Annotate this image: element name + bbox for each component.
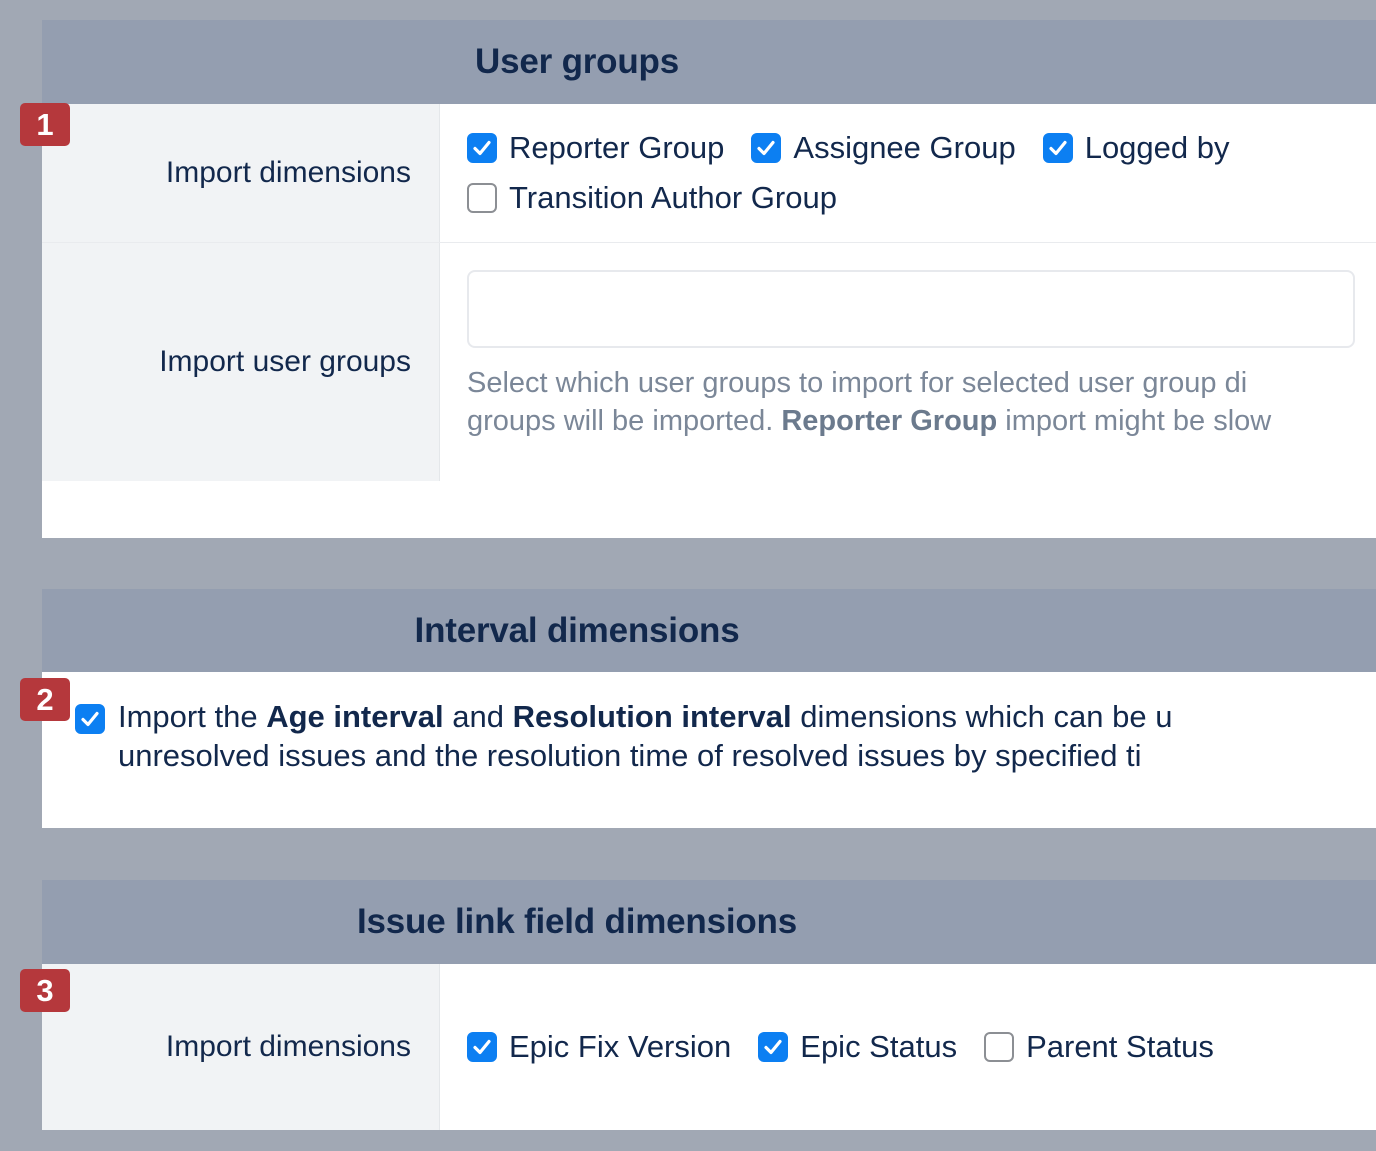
field-row-import-dimensions: Import dimensions Reporter Group: [42, 104, 1376, 242]
checkbox-logged-by[interactable]: Logged by: [1043, 130, 1230, 166]
card-title: User groups: [475, 42, 679, 82]
checkbox-checked-icon[interactable]: [751, 133, 781, 163]
step-badge-label: 2: [36, 682, 53, 718]
field-label-cell: Import dimensions: [42, 964, 440, 1130]
field-control-cell: Reporter Group Assignee Group: [440, 104, 1376, 242]
field-control-cell: Select which user groups to import for s…: [440, 243, 1376, 481]
checkbox-checked-icon[interactable]: [758, 1032, 788, 1062]
checkbox-group-user-group-dimensions: Reporter Group Assignee Group: [467, 130, 1376, 216]
step-badge-1: 1: [20, 103, 70, 146]
card-title: Issue link field dimensions: [357, 902, 797, 942]
checkbox-checked-icon[interactable]: [467, 1032, 497, 1062]
checkbox-assignee-group[interactable]: Assignee Group: [751, 130, 1015, 166]
checkbox-epic-status[interactable]: Epic Status: [758, 1029, 957, 1065]
settings-page: User groups Import dimensions Reporter G…: [0, 0, 1376, 1151]
checkbox-import-interval-dimensions[interactable]: [75, 704, 105, 734]
user-groups-select[interactable]: [467, 270, 1355, 348]
card-header-issue-link-field-dimensions: Issue link field dimensions: [42, 880, 1376, 964]
field-control-cell: Epic Fix Version Epic Status Parent Stat…: [440, 964, 1376, 1130]
checkbox-parent-status[interactable]: Parent Status: [984, 1029, 1214, 1065]
step-badge-label: 3: [36, 973, 53, 1009]
interval-dimensions-description: Import the Age interval and Resolution i…: [118, 698, 1376, 776]
field-label-cell: Import user groups: [42, 243, 440, 481]
card-interval-dimensions: Interval dimensions Import the Age inter…: [42, 589, 1376, 828]
interval-dimensions-row: Import the Age interval and Resolution i…: [42, 672, 1376, 802]
step-badge-3: 3: [20, 969, 70, 1012]
card-header-interval-dimensions: Interval dimensions: [42, 589, 1376, 672]
checkbox-label: Parent Status: [1026, 1029, 1214, 1065]
checkbox-label: Epic Status: [800, 1029, 957, 1065]
checkbox-epic-fix-version[interactable]: Epic Fix Version: [467, 1029, 731, 1065]
field-label: Import dimensions: [166, 156, 411, 190]
checkbox-label: Logged by: [1085, 130, 1230, 166]
field-label: Import dimensions: [166, 1030, 411, 1064]
field-label: Import user groups: [159, 345, 411, 379]
checkbox-group-issue-link-dimensions: Epic Fix Version Epic Status Parent Stat…: [467, 1029, 1376, 1065]
field-row-issue-link-import-dimensions: Import dimensions Epic Fix Version: [42, 964, 1376, 1130]
card-issue-link-field-dimensions: Issue link field dimensions Import dimen…: [42, 880, 1376, 1130]
checkbox-transition-author-group[interactable]: Transition Author Group: [467, 180, 1376, 216]
checkbox-unchecked-icon[interactable]: [984, 1032, 1014, 1062]
checkbox-checked-icon[interactable]: [467, 133, 497, 163]
card-user-groups: User groups Import dimensions Reporter G…: [42, 20, 1376, 538]
checkbox-reporter-group[interactable]: Reporter Group: [467, 130, 724, 166]
step-badge-2: 2: [20, 678, 70, 721]
checkbox-checked-icon[interactable]: [1043, 133, 1073, 163]
card-title: Interval dimensions: [415, 611, 740, 651]
field-label-cell: Import dimensions: [42, 104, 440, 242]
field-row-import-user-groups: Import user groups Select which user gro…: [42, 242, 1376, 481]
checkbox-label: Epic Fix Version: [509, 1029, 731, 1065]
checkbox-unchecked-icon[interactable]: [467, 183, 497, 213]
step-badge-label: 1: [36, 107, 53, 143]
import-user-groups-helper-text: Select which user groups to import for s…: [467, 364, 1376, 441]
checkbox-label: Reporter Group: [509, 130, 724, 166]
checkbox-label: Transition Author Group: [509, 180, 837, 216]
checkbox-label: Assignee Group: [793, 130, 1015, 166]
card-header-user-groups: User groups: [42, 20, 1376, 104]
